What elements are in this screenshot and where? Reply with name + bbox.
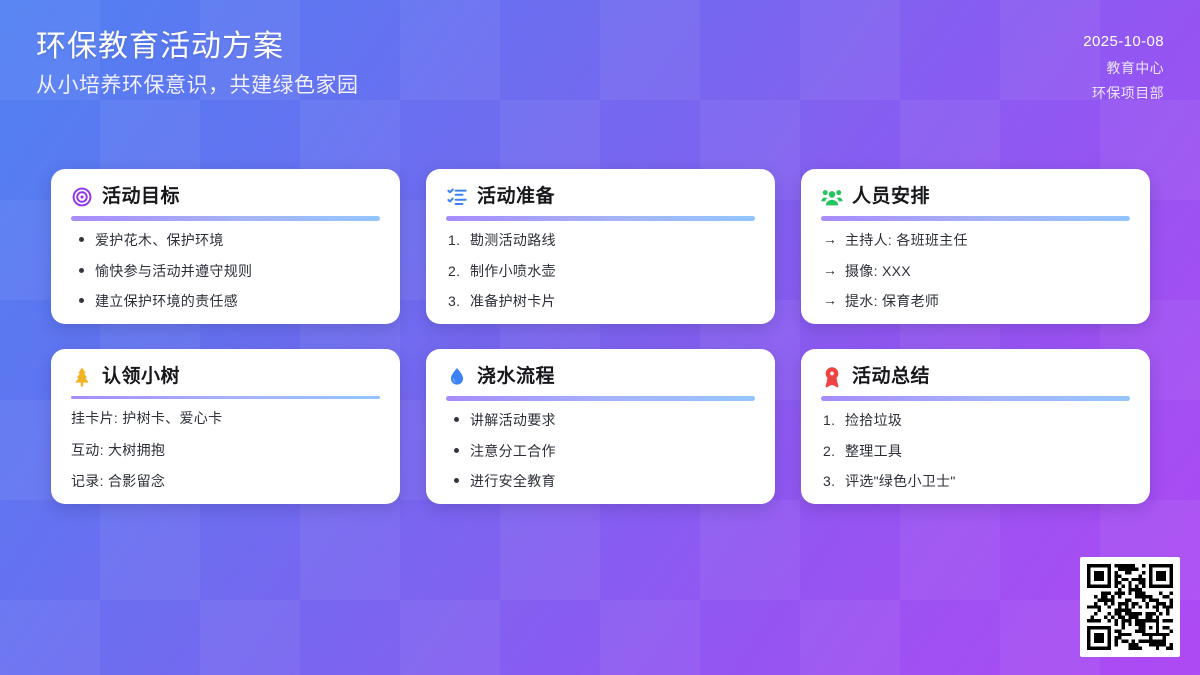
qr-code-container[interactable] xyxy=(1080,557,1180,657)
card-body: 讲解活动要求注意分工合作进行安全教育 xyxy=(446,411,755,490)
list-item: 准备护树卡片 xyxy=(448,292,755,310)
slide-header: 环保教育活动方案 从小培养环保意识，共建绿色家园 2025-10-08 教育中心… xyxy=(0,0,1200,130)
award-medal-icon xyxy=(821,366,843,388)
card-item-list: 勘测活动路线制作小喷水壶准备护树卡片 xyxy=(446,231,755,310)
presentation-slide: 环保教育活动方案 从小培养环保意识，共建绿色家园 2025-10-08 教育中心… xyxy=(0,0,1200,675)
card-item-list: 挂卡片: 护树卡、爱心卡互动: 大树拥抱记录: 合影留念 xyxy=(71,409,380,490)
header-title-block: 环保教育活动方案 从小培养环保意识，共建绿色家园 xyxy=(36,28,359,99)
card-title: 活动目标 xyxy=(102,187,180,208)
tree-icon xyxy=(71,366,93,388)
header-date: 2025-10-08 xyxy=(1083,31,1164,53)
card-activity-summary: 活动总结捡拾垃圾整理工具评选"绿色小卫士" xyxy=(801,349,1150,504)
card-item-list: 捡拾垃圾整理工具评选"绿色小卫士" xyxy=(821,411,1130,490)
list-item: 主持人: 各班班主任 xyxy=(823,231,1130,249)
card-header: 活动总结 xyxy=(821,366,1130,388)
card-activity-goal: 活动目标爱护花木、保护环境愉快参与活动并遵守规则建立保护环境的责任感 xyxy=(51,169,400,324)
card-adopt-a-tree: 认领小树挂卡片: 护树卡、爱心卡互动: 大树拥抱记录: 合影留念 xyxy=(51,349,400,504)
card-body: 爱护花木、保护环境愉快参与活动并遵守规则建立保护环境的责任感 xyxy=(71,231,380,310)
list-item: 进行安全教育 xyxy=(448,472,755,490)
card-body: 勘测活动路线制作小喷水壶准备护树卡片 xyxy=(446,231,755,310)
card-body: 挂卡片: 护树卡、爱心卡互动: 大树拥抱记录: 合影留念 xyxy=(71,409,380,490)
header-organization: 教育中心 xyxy=(1106,58,1164,78)
list-item: 提水: 保育老师 xyxy=(823,292,1130,310)
list-item: 挂卡片: 护树卡、爱心卡 xyxy=(71,409,380,427)
card-title: 活动准备 xyxy=(477,187,555,208)
page-title: 环保教育活动方案 xyxy=(36,28,359,66)
users-icon xyxy=(821,186,843,208)
content-card-grid: 活动目标爱护花木、保护环境愉快参与活动并遵守规则建立保护环境的责任感活动准备勘测… xyxy=(51,169,1149,504)
list-item: 互动: 大树拥抱 xyxy=(71,441,380,459)
list-item: 记录: 合影留念 xyxy=(71,472,380,490)
card-watering-process: 浇水流程讲解活动要求注意分工合作进行安全教育 xyxy=(426,349,775,504)
header-department: 环保项目部 xyxy=(1092,83,1164,103)
card-staff-arrangement: 人员安排主持人: 各班班主任摄像: XXX提水: 保育老师 xyxy=(801,169,1150,324)
card-divider-bar xyxy=(446,216,755,221)
card-title: 人员安排 xyxy=(852,187,930,208)
card-title: 浇水流程 xyxy=(477,367,555,388)
list-item: 讲解活动要求 xyxy=(448,411,755,429)
card-divider-bar xyxy=(821,216,1130,221)
card-divider-bar xyxy=(446,396,755,401)
card-header: 认领小树 xyxy=(71,366,380,388)
target-icon xyxy=(71,186,93,208)
card-header: 人员安排 xyxy=(821,186,1130,208)
water-drop-icon xyxy=(446,366,468,388)
card-header: 浇水流程 xyxy=(446,366,755,388)
list-item: 愉快参与活动并遵守规则 xyxy=(73,262,380,280)
list-item: 评选"绿色小卫士" xyxy=(823,472,1130,490)
card-item-list: 主持人: 各班班主任摄像: XXX提水: 保育老师 xyxy=(821,231,1130,310)
card-body: 主持人: 各班班主任摄像: XXX提水: 保育老师 xyxy=(821,231,1130,310)
card-divider-bar xyxy=(71,216,380,221)
list-item: 注意分工合作 xyxy=(448,442,755,460)
list-item: 摄像: XXX xyxy=(823,262,1130,280)
list-checks-icon xyxy=(446,186,468,208)
card-item-list: 讲解活动要求注意分工合作进行安全教育 xyxy=(446,411,755,490)
list-item: 制作小喷水壶 xyxy=(448,262,755,280)
card-header: 活动目标 xyxy=(71,186,380,208)
header-meta-block: 2025-10-08 教育中心 环保项目部 xyxy=(1083,28,1164,103)
list-item: 整理工具 xyxy=(823,442,1130,460)
card-header: 活动准备 xyxy=(446,186,755,208)
card-body: 捡拾垃圾整理工具评选"绿色小卫士" xyxy=(821,411,1130,490)
card-title: 活动总结 xyxy=(852,367,930,388)
list-item: 勘测活动路线 xyxy=(448,231,755,249)
card-item-list: 爱护花木、保护环境愉快参与活动并遵守规则建立保护环境的责任感 xyxy=(71,231,380,310)
card-activity-preparation: 活动准备勘测活动路线制作小喷水壶准备护树卡片 xyxy=(426,169,775,324)
list-item: 捡拾垃圾 xyxy=(823,411,1130,429)
card-divider-bar xyxy=(71,396,380,399)
qr-code xyxy=(1087,564,1173,650)
list-item: 爱护花木、保护环境 xyxy=(73,231,380,249)
list-item: 建立保护环境的责任感 xyxy=(73,292,380,310)
page-subtitle: 从小培养环保意识，共建绿色家园 xyxy=(36,72,359,99)
card-title: 认领小树 xyxy=(102,367,180,388)
card-divider-bar xyxy=(821,396,1130,401)
